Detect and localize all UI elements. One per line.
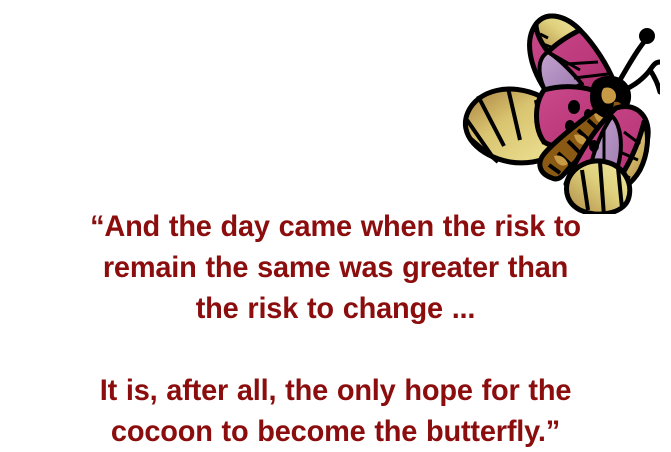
butterfly-illustration: [448, 4, 660, 214]
antenna-tip: [639, 28, 655, 44]
butterfly-antennae: [620, 28, 660, 92]
quote-block: “And the day came when the risk to remai…: [0, 206, 671, 452]
wing-spot: [568, 100, 580, 114]
slide-canvas: “And the day came when the risk to remai…: [0, 0, 671, 442]
wing-spot: [589, 140, 599, 152]
quote-paragraph-2: It is, after all, the only hope for the …: [12, 370, 660, 452]
quote-paragraph-1: “And the day came when the risk to remai…: [12, 206, 660, 329]
butterfly-group: [465, 16, 660, 214]
